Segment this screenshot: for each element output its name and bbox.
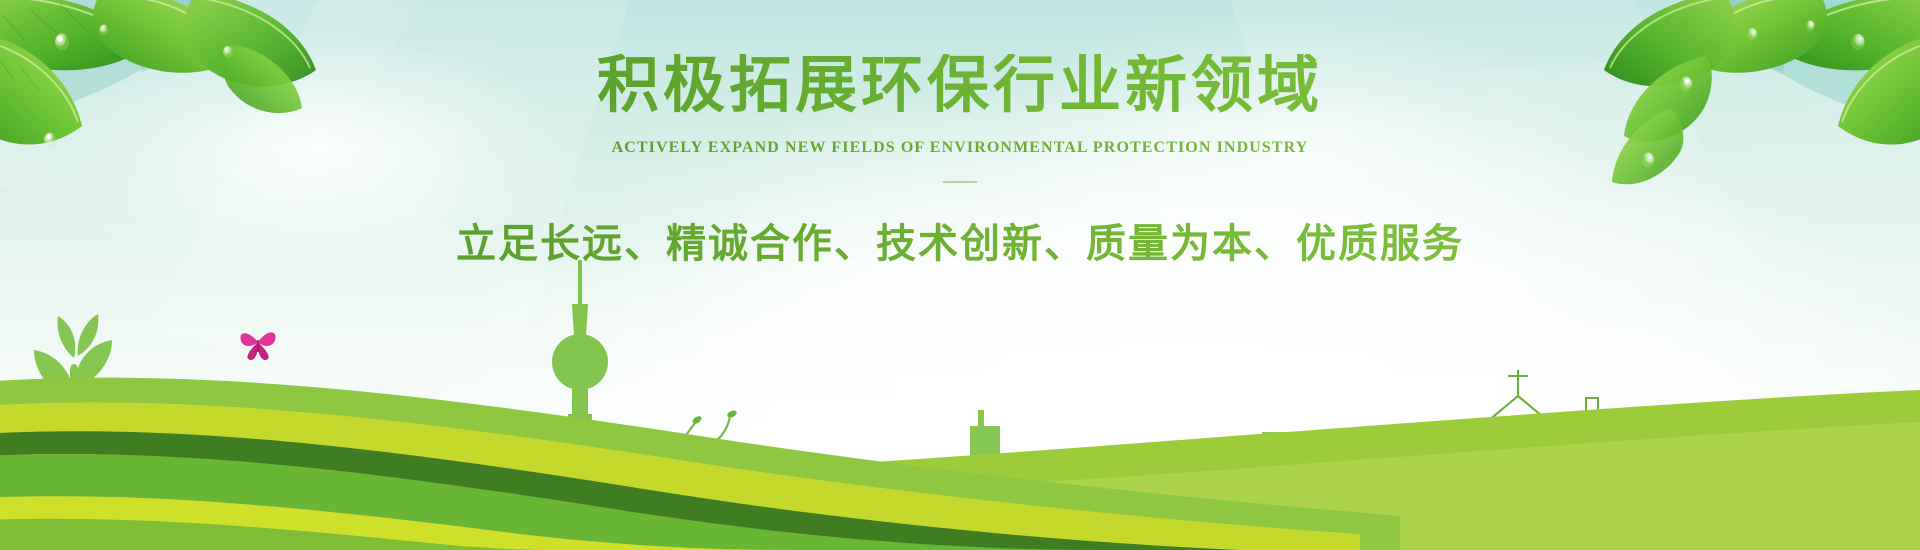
banner-text-block: 积极拓展环保行业新领域 ACTIVELY EXPAND NEW FIELDS O… bbox=[0, 54, 1920, 269]
eco-banner: 积极拓展环保行业新领域 ACTIVELY EXPAND NEW FIELDS O… bbox=[0, 0, 1920, 550]
wave-bands bbox=[0, 320, 1920, 550]
banner-tagline: 立足长远、精诚合作、技术创新、质量为本、优质服务 bbox=[0, 211, 1920, 269]
banner-subtitle: ACTIVELY EXPAND NEW FIELDS OF ENVIRONMEN… bbox=[0, 139, 1920, 157]
banner-headline: 积极拓展环保行业新领域 bbox=[0, 54, 1920, 119]
text-divider bbox=[943, 181, 977, 183]
